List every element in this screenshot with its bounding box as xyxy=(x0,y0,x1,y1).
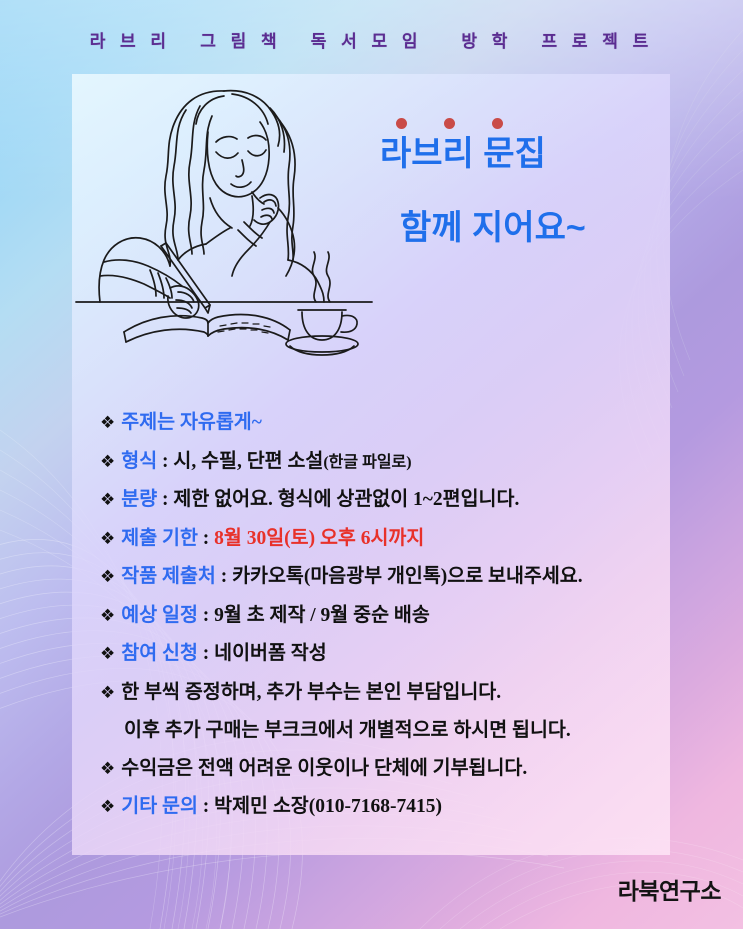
diamond-bullet-icon: ❖ xyxy=(100,759,115,779)
detail-text-part: : xyxy=(198,528,214,549)
decorative-dots-row xyxy=(380,118,680,129)
detail-text-part: 기타 문의 xyxy=(121,796,198,817)
poster-kicker-text: 라 브 리 그 림 책 독 서 모 임 방 학 프 로 젝 트 xyxy=(0,27,743,52)
detail-text-part: 분량 xyxy=(121,489,157,510)
detail-line: ❖작품 제출처 : 카카오톡(마음광부 개인톡)으로 보내주세요. xyxy=(100,558,660,597)
poster-canvas: 라 브 리 그 림 책 독 서 모 임 방 학 프 로 젝 트 xyxy=(0,0,743,929)
detail-text-part: 주제는 자유롭게~ xyxy=(121,412,262,433)
detail-line: 이후 추가 구매는 부크크에서 개별적으로 하시면 됩니다. xyxy=(100,712,660,750)
detail-line: ❖형식 : 시, 수필, 단편 소설(한글 파일로) xyxy=(100,443,660,482)
detail-text-part: 8월 30일(토) 오후 6시까지 xyxy=(214,528,424,549)
detail-line: ❖주제는 자유롭게~ xyxy=(100,404,660,443)
detail-text-part: : 카카오톡(마음광부 개인톡)으로 보내주세요. xyxy=(216,566,583,587)
diamond-bullet-icon: ❖ xyxy=(100,644,115,664)
detail-line: ❖예상 일정 : 9월 초 제작 / 9월 중순 배송 xyxy=(100,597,660,636)
detail-text-part: 참여 신청 xyxy=(121,643,198,664)
title-block: 라브리 문집 함께 지어요~ xyxy=(380,118,680,246)
detail-line: ❖수익금은 전액 어려운 이웃이나 단체에 기부됩니다. xyxy=(100,750,660,789)
detail-text-part: : 네이버폼 작성 xyxy=(198,643,327,664)
diamond-bullet-icon: ❖ xyxy=(100,490,115,510)
diamond-bullet-icon: ❖ xyxy=(100,413,115,433)
detail-line: ❖분량 : 제한 없어요. 형식에 상관없이 1~2편입니다. xyxy=(100,481,660,520)
detail-text-part: : 박제민 소장(010-7168-7415) xyxy=(198,796,442,817)
diamond-bullet-icon: ❖ xyxy=(100,683,115,703)
detail-line: ❖한 부씩 증정하며, 추가 부수는 본인 부담입니다. xyxy=(100,674,660,713)
red-dot-icon xyxy=(396,118,407,129)
diamond-bullet-icon: ❖ xyxy=(100,529,115,549)
detail-line: ❖참여 신청 : 네이버폼 작성 xyxy=(100,635,660,674)
detail-text-part: : 제한 없어요. 형식에 상관없이 1~2편입니다. xyxy=(157,489,519,510)
detail-text-part: 한 부씩 증정하며, 추가 부수는 본인 부담입니다. xyxy=(121,682,501,703)
illustration-woman-writing xyxy=(74,80,374,365)
brand-footer: 라북연구소 xyxy=(618,872,721,906)
detail-text-part: (한글 파일로) xyxy=(323,454,411,471)
poster-title-line-2: 함께 지어요~ xyxy=(400,211,680,247)
red-dot-icon xyxy=(492,118,503,129)
poster-title-line-1: 라브리 문집 xyxy=(380,137,680,173)
detail-line: ❖기타 문의 : 박제민 소장(010-7168-7415) xyxy=(100,788,660,827)
detail-text-part: 형식 xyxy=(121,451,157,472)
details-list: ❖주제는 자유롭게~❖형식 : 시, 수필, 단편 소설(한글 파일로)❖분량 … xyxy=(100,404,660,827)
diamond-bullet-icon: ❖ xyxy=(100,606,115,626)
detail-text-part: 제출 기한 xyxy=(121,528,198,549)
diamond-bullet-icon: ❖ xyxy=(100,567,115,587)
detail-text-part: 이후 추가 구매는 부크크에서 개별적으로 하시면 됩니다. xyxy=(124,720,571,741)
red-dot-icon xyxy=(444,118,455,129)
diamond-bullet-icon: ❖ xyxy=(100,797,115,817)
detail-text-part: : 시, 수필, 단편 소설 xyxy=(157,451,323,472)
detail-text-part: : 9월 초 제작 / 9월 중순 배송 xyxy=(198,605,430,626)
diamond-bullet-icon: ❖ xyxy=(100,452,115,472)
detail-text-part: 작품 제출처 xyxy=(121,566,216,587)
detail-text-part: 수익금은 전액 어려운 이웃이나 단체에 기부됩니다. xyxy=(121,758,527,779)
detail-text-part: 예상 일정 xyxy=(121,605,198,626)
detail-line: ❖제출 기한 : 8월 30일(토) 오후 6시까지 xyxy=(100,520,660,559)
